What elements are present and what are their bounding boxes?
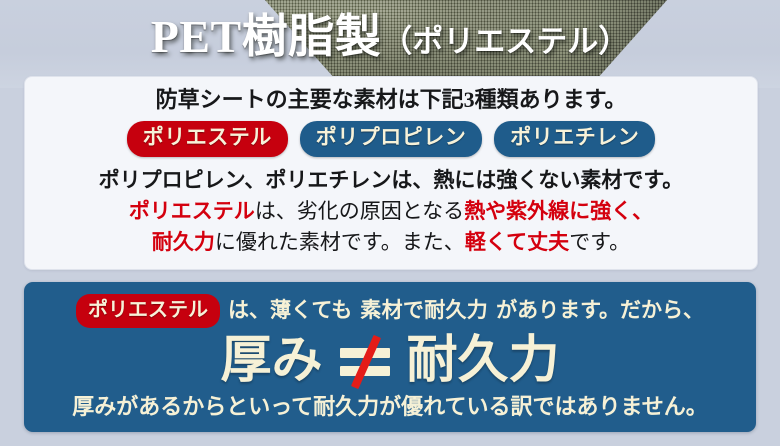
conclusion-line-1: ポリエステルは、薄くても素材で耐久力があります。だから、 <box>24 294 756 328</box>
body-line-1-text: ポリプロピレン、ポリエチレンは、熱には強くない素材です。 <box>99 168 684 192</box>
conclusion-line-3: 厚みがあるからといって耐久力が優れている訳ではありません。 <box>24 392 756 422</box>
body-line-3-keyword-durability: 耐久力 <box>152 230 215 254</box>
badge-polyethylene[interactable]: ポリエチレン <box>494 121 655 157</box>
not-equal-icon <box>337 334 393 386</box>
inline-badge-polyester[interactable]: ポリエステル <box>76 294 220 328</box>
body-line-3-plain-b: です。 <box>569 230 630 254</box>
badge-polypropylene[interactable]: ポリプロピレン <box>300 121 483 157</box>
page-title-main: PET樹脂製 <box>151 11 381 62</box>
body-line-2-plain: は、劣化の原因となる <box>255 199 464 223</box>
body-line-2-keyword-heat-uv: 熱や紫外線に強く、 <box>464 199 653 223</box>
info-card: 防草シートの主要な素材は下記3種類あります。 ポリエステル ポリプロピレン ポリ… <box>24 76 758 270</box>
badge-polyester[interactable]: ポリエステル <box>127 121 288 157</box>
conclusion-line-1-emphasis: 素材で耐久力 <box>360 297 488 325</box>
body-line-2-keyword-polyester: ポリエステル <box>129 199 255 223</box>
card-lead-text: 防草シートの主要な素材は下記3種類あります。 <box>25 86 757 114</box>
body-line-3: 耐久力に優れた素材です。また、軽くて丈夫です。 <box>25 227 757 257</box>
body-line-3-plain-a: に優れた素材です。また、 <box>215 230 465 254</box>
body-line-3-keyword-light-strong: 軽くて丈夫 <box>465 230 569 254</box>
formula-right-term: 耐久力 <box>407 330 560 390</box>
page-title: PET樹脂製（ポリエステル） <box>0 4 780 75</box>
formula-left-term: 厚み <box>220 330 322 390</box>
body-line-1: ポリプロピレン、ポリエチレンは、熱には強くない素材です。 <box>25 165 757 195</box>
page-title-sub: （ポリエステル） <box>381 24 629 59</box>
infographic-page: PET樹脂製（ポリエステル） 防草シートの主要な素材は下記3種類あります。 ポリ… <box>0 0 780 446</box>
formula-row: 厚み 耐久力 <box>24 330 756 390</box>
conclusion-line-1-part-a: は、薄くても <box>228 297 352 325</box>
material-badge-row: ポリエステル ポリプロピレン ポリエチレン <box>25 121 757 157</box>
conclusion-line-1-part-b: があります。だから、 <box>496 297 704 325</box>
body-line-2: ポリエステルは、劣化の原因となる熱や紫外線に強く、 <box>25 196 757 226</box>
conclusion-panel: ポリエステルは、薄くても素材で耐久力があります。だから、 厚み 耐久力 厚みがあ… <box>24 282 756 432</box>
